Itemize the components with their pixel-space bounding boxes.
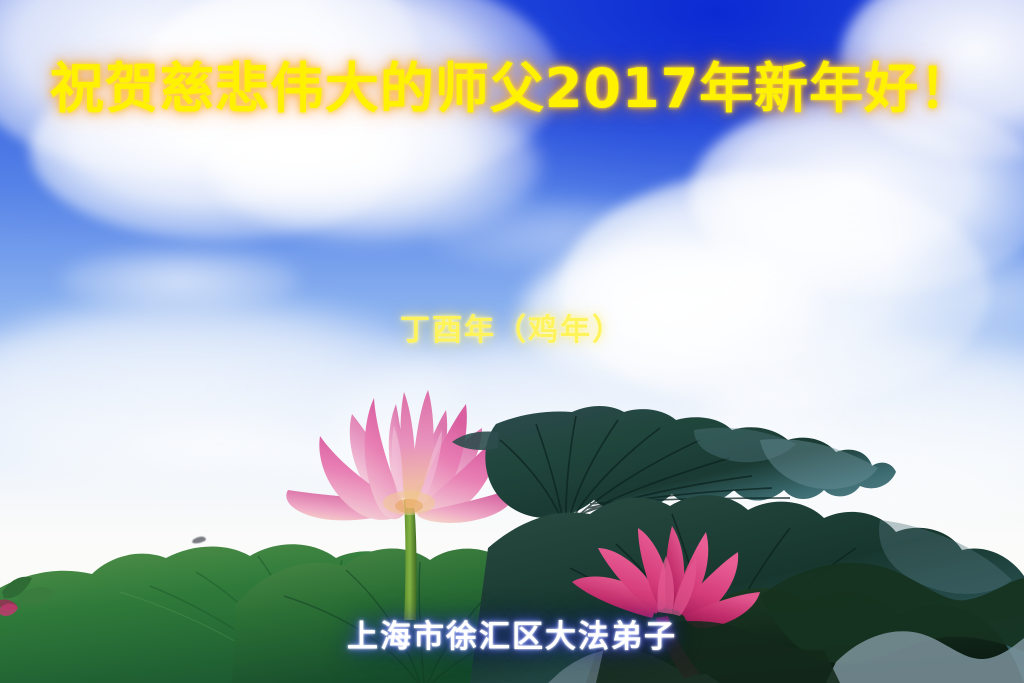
sender-signature: 上海市徐汇区大法弟子 — [0, 622, 1024, 653]
greeting-title: 祝贺慈悲伟大的师父2017年新年好！ — [0, 62, 1024, 116]
greeting-card-image: 祝贺慈悲伟大的师父2017年新年好！ 丁酉年（鸡年） — [0, 0, 1024, 683]
zodiac-year-subtitle: 丁酉年（鸡年） — [0, 316, 1024, 346]
